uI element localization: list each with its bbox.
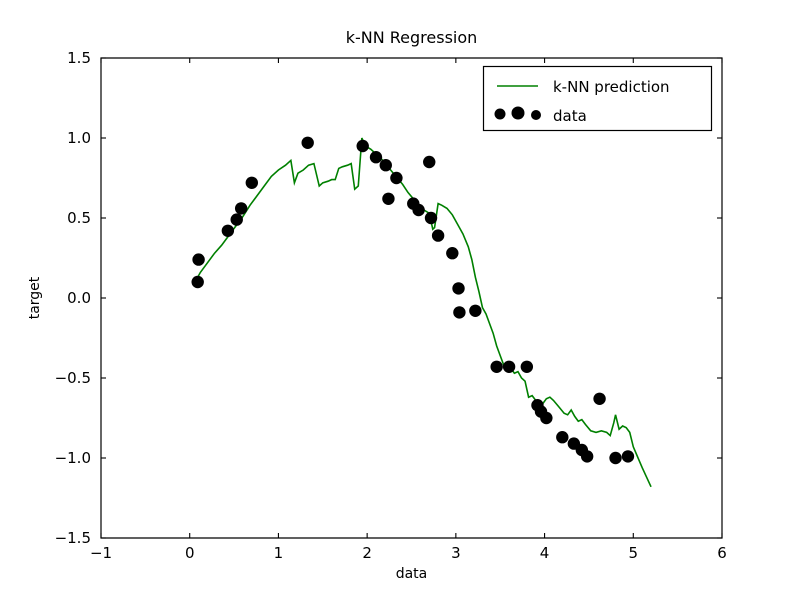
y-tick-label: −1.0 — [55, 449, 91, 467]
data-point — [609, 452, 621, 464]
x-tick-label: 4 — [540, 544, 550, 562]
data-point — [246, 177, 258, 189]
data-point — [412, 204, 424, 216]
y-tick-label: 1.0 — [67, 129, 91, 147]
data-point — [446, 247, 458, 259]
data-point — [490, 361, 502, 373]
data-point — [357, 140, 369, 152]
data-point — [380, 159, 392, 171]
x-tick-label: 3 — [451, 544, 461, 562]
data-point — [423, 156, 435, 168]
data-point — [622, 450, 634, 462]
y-tick-label: 0.5 — [67, 209, 91, 227]
legend[interactable]: k-NN prediction data — [484, 67, 712, 131]
y-tick-label: 1.5 — [67, 49, 91, 67]
y-axis-label: target — [27, 276, 43, 319]
data-point — [222, 225, 234, 237]
legend-label-knn-prediction: k-NN prediction — [553, 78, 670, 96]
data-point — [302, 137, 314, 149]
data-point — [192, 253, 204, 265]
data-point — [231, 213, 243, 225]
data-point — [469, 305, 481, 317]
figure-canvas: k-NN Regression −10123456 −1.5−1.0−0.50.… — [0, 0, 800, 600]
legend-box — [484, 67, 712, 131]
data-point — [390, 172, 402, 184]
chart-title: k-NN Regression — [346, 28, 478, 47]
data-point — [521, 361, 533, 373]
data-point — [425, 212, 437, 224]
data-point — [593, 393, 605, 405]
y-tick-label: 0.0 — [67, 289, 91, 307]
data-point — [453, 306, 465, 318]
legend-label-data: data — [553, 107, 587, 125]
data-point — [235, 202, 247, 214]
data-point — [540, 412, 552, 424]
x-tick-label: 1 — [274, 544, 284, 562]
y-tick-label: −0.5 — [55, 369, 91, 387]
y-tick-label: −1.5 — [55, 529, 91, 547]
data-point — [452, 282, 464, 294]
x-tick-label: 6 — [717, 544, 727, 562]
x-tick-label: 2 — [362, 544, 372, 562]
legend-dot-swatch-icon-1 — [495, 109, 506, 120]
data-point — [382, 193, 394, 205]
legend-dot-swatch-icon-2 — [512, 107, 525, 120]
data-point — [503, 361, 515, 373]
x-tick-label: 5 — [629, 544, 639, 562]
data-point — [432, 229, 444, 241]
data-point — [370, 151, 382, 163]
legend-dot-swatch-icon-3 — [531, 110, 541, 120]
x-tick-label: −1 — [90, 544, 112, 562]
chart-svg: k-NN Regression −10123456 −1.5−1.0−0.50.… — [0, 0, 800, 600]
x-tick-label: 0 — [185, 544, 195, 562]
data-point — [556, 431, 568, 443]
data-point — [192, 276, 204, 288]
x-axis-label: data — [396, 566, 428, 582]
data-point — [581, 450, 593, 462]
